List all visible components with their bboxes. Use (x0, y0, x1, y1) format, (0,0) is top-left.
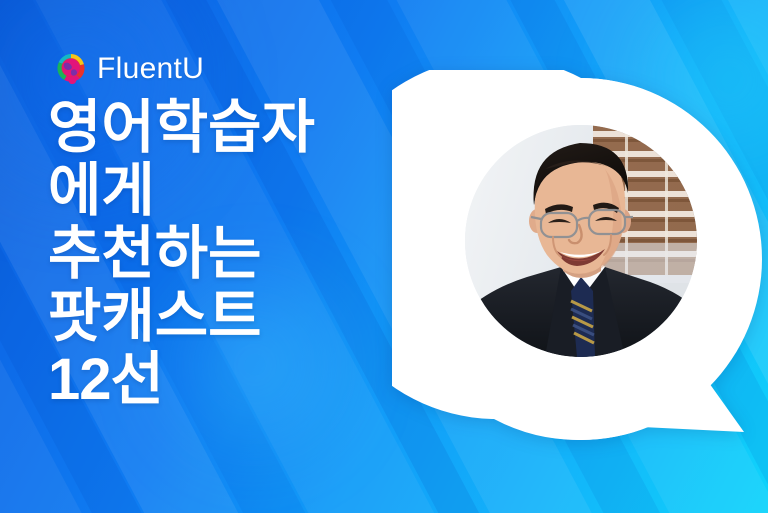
banner-canvas: FluentU 영어학습자 에게 추천하는 팟캐스트 12선 (0, 0, 768, 513)
headline-line-4: 팟캐스트 (48, 285, 408, 348)
fluentu-globe-icon (54, 52, 88, 86)
headline-line-1: 영어학습자 (48, 96, 408, 159)
brand-logo[interactable]: FluentU (54, 50, 204, 88)
headline-line-2: 에게 (48, 159, 408, 222)
headline-block: 영어학습자 에게 추천하는 팟캐스트 12선 (48, 96, 408, 411)
headline-line-3: 추천하는 (48, 222, 408, 285)
portrait-illustration (465, 125, 697, 357)
headline-line-5: 12선 (48, 348, 408, 411)
portrait-photo (465, 125, 697, 357)
brand-wordmark: FluentU (97, 54, 204, 84)
speech-bubble (392, 70, 768, 450)
